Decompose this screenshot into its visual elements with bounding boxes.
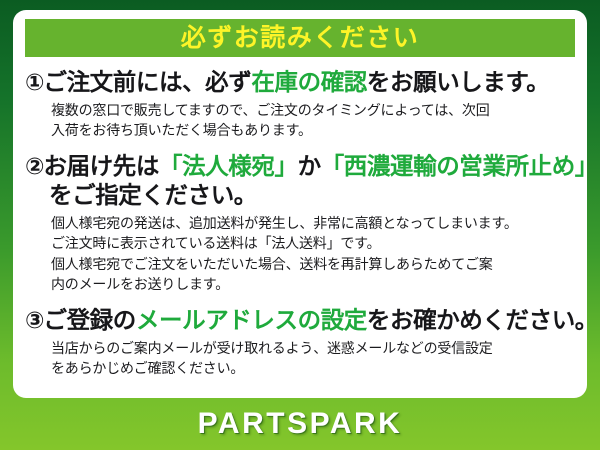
item-1-heading: ①ご注文前には、必ず在庫の確認をお願いします。	[25, 68, 577, 97]
item-1-subtext-line-0: 複数の窓口で販売してますので、ご注文のタイミングによっては、次回	[51, 100, 577, 120]
notice-list: ①ご注文前には、必ず在庫の確認をお願いします。 複数の窓口で販売してますので、ご…	[13, 66, 587, 386]
item-1-subtext-line-1: 入荷をお待ち頂いただく場合もあります。	[51, 120, 577, 140]
item-3-head-part-0: ご登録の	[43, 307, 135, 333]
list-item: ②お届け先は「法人様宛」か「西濃運輸の営業所止め」 をご指定ください。 個人様宅…	[25, 152, 577, 294]
item-2-subtext: 個人様宅宛の発送は、追加送料が発生し、非常に高額となってしまいます。 ご注文時に…	[25, 213, 577, 294]
item-2-head-part-1: 「法人様宛」	[159, 153, 298, 179]
item-3-heading: ③ご登録のメールアドレスの設定をお確かめください。	[25, 306, 577, 335]
item-3-subtext: 当店からのご案内メールが受け取れるよう、迷惑メールなどの受信設定 をあらかじめご…	[25, 338, 577, 379]
item-2-subtext-line-3: 内のメールをお送りします。	[51, 274, 577, 294]
item-2-head-part-0: お届け先は	[43, 153, 159, 179]
item-2-subtext-line-2: 個人様宅宛でご注文をいただいた場合、送料を再計算しあらためてご案	[51, 254, 577, 274]
list-item: ③ご登録のメールアドレスの設定をお確かめください。 当店からのご案内メールが受け…	[25, 306, 577, 378]
notice-banner: 必ずお読みください ①ご注文前には、必ず在庫の確認をお願いします。 複数の窓口で…	[0, 0, 600, 450]
item-2-head-part-3: 「西濃運輸の営業所止め」	[321, 153, 587, 179]
header-band: 必ずお読みください	[25, 19, 575, 57]
page-title: 必ずお読みください	[181, 26, 420, 51]
item-3-number: ③	[25, 307, 43, 333]
item-3-subtext-line-0: 当店からのご案内メールが受け取れるよう、迷惑メールなどの受信設定	[51, 338, 577, 358]
item-2-subtext-line-0: 個人様宅宛の発送は、追加送料が発生し、非常に高額となってしまいます。	[51, 213, 577, 233]
item-2-head-part-2: か	[298, 153, 321, 179]
item-1-head-part-1: 在庫の確認	[251, 69, 367, 95]
item-2-heading-line2: をご指定ください。	[25, 181, 577, 210]
brand-logo-text: PARTSPARK	[198, 409, 403, 439]
item-1-head-part-2: をお願いします。	[367, 69, 549, 95]
item-3-head-part-2: をお確かめください。	[367, 307, 587, 333]
item-1-subtext: 複数の窓口で販売してますので、ご注文のタイミングによっては、次回 入荷をお待ち頂…	[25, 100, 577, 141]
item-2-subtext-line-1: ご注文時に表示されている送料は「法人送料」です。	[51, 233, 577, 253]
item-2-number: ②	[25, 153, 43, 179]
list-item: ①ご注文前には、必ず在庫の確認をお願いします。 複数の窓口で販売してますので、ご…	[25, 68, 577, 140]
footer-brand-bar: PARTSPARK	[0, 398, 600, 450]
item-3-head-part-1: メールアドレスの設定	[136, 307, 367, 333]
item-3-subtext-line-1: をあらかじめご確認ください。	[51, 358, 577, 378]
white-content-panel: 必ずお読みください ①ご注文前には、必ず在庫の確認をお願いします。 複数の窓口で…	[13, 10, 587, 398]
item-1-number: ①	[25, 69, 43, 95]
item-1-head-part-0: ご注文前には、必ず	[43, 69, 251, 95]
item-2-heading: ②お届け先は「法人様宛」か「西濃運輸の営業所止め」	[25, 152, 577, 181]
